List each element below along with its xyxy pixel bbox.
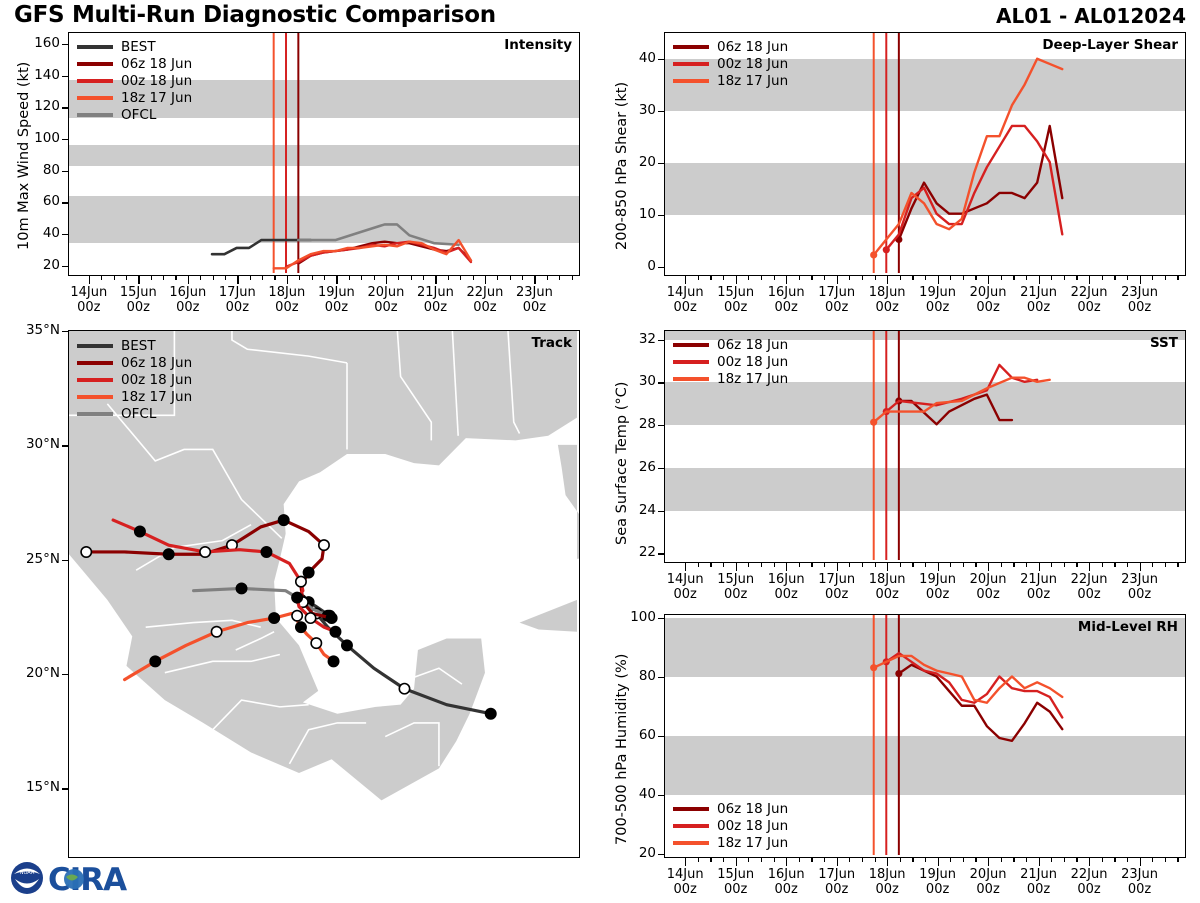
x-tick-mark [188,276,189,284]
x-tick-hour: 00z [976,587,999,602]
x-minor-tick [950,858,951,862]
x-tick-mark [336,276,337,284]
x-tick-date: 23Jun [1121,572,1158,587]
x-minor-tick [862,858,863,862]
x-tick-mark [386,276,387,284]
x-minor-tick [225,276,226,280]
x-minor-tick [522,276,523,280]
x-minor-tick [1051,858,1052,862]
svg-text:NOAA: NOAA [20,870,35,876]
x-tick-mark [988,276,989,284]
legend-label: 18z 17 Jun [717,73,788,89]
legend-item: 00z 18 Jun [77,371,192,388]
x-minor-tick [1013,858,1014,862]
x-tick-mark [786,563,787,571]
x-minor-tick [710,563,711,567]
series-start-marker [895,670,902,677]
legend-item: 00z 18 Jun [673,353,788,370]
legend-label: 06z 18 Jun [121,56,192,72]
y-tick-label: 160 [6,35,60,51]
shear-panel-title: Deep-Layer Shear [1042,37,1178,53]
series-line [899,665,1062,741]
track-point-marker [319,540,329,550]
legend-label: 06z 18 Jun [717,801,788,817]
track-point-marker [236,583,246,593]
intensity-panel-title: Intensity [504,37,572,53]
x-tick-hour: 00z [1128,300,1151,315]
y-tick-mark [658,618,665,619]
x-tick-mark [736,276,737,284]
x-tick-label: 23Jun00z [1102,572,1178,602]
track-point-marker [399,684,409,694]
x-tick-hour: 00z [674,882,697,897]
x-minor-tick [723,276,724,280]
x-tick-hour: 00z [774,882,797,897]
y-tick-label: 40 [602,50,656,66]
x-minor-tick [900,276,901,280]
latitude-tick-label: 15°N [6,779,60,795]
x-minor-tick [963,563,964,567]
y-tick-label: 10 [602,206,656,222]
x-tick-hour: 00z [825,587,848,602]
x-tick-hour: 00z [724,882,747,897]
latitude-tick-mark [62,331,69,332]
x-tick-hour: 00z [1128,882,1151,897]
x-minor-tick [748,563,749,567]
legend-item: OFCL [77,106,192,123]
latitude-tick-mark [62,674,69,675]
series-line [874,656,1063,703]
x-minor-tick [811,858,812,862]
x-minor-tick [723,563,724,567]
x-tick-mark [89,276,90,284]
x-minor-tick [299,276,300,280]
x-minor-tick [849,858,850,862]
x-minor-tick [875,276,876,280]
legend-item: 06z 18 Jun [673,800,788,817]
legend-item: 06z 18 Jun [77,55,192,72]
x-minor-tick [1165,563,1166,567]
x-tick-date: 23Jun [516,285,553,300]
x-tick-hour: 00z [1027,587,1050,602]
x-tick-mark [685,858,686,866]
y-tick-mark [658,340,665,341]
page-title: GFS Multi-Run Diagnostic Comparison [14,2,496,28]
x-tick-mark [938,276,939,284]
x-minor-tick [423,276,424,280]
x-minor-tick [101,276,102,280]
y-tick-label: 24 [602,502,656,518]
y-tick-label: 140 [6,67,60,83]
track-point-marker [261,547,271,557]
legend-line-swatch [673,841,709,845]
legend-item: BEST [77,38,192,55]
x-minor-tick [849,276,850,280]
x-minor-tick [1076,858,1077,862]
legend-line-swatch [77,96,113,100]
legend-label: 00z 18 Jun [121,73,192,89]
x-minor-tick [862,563,863,567]
x-minor-tick [411,276,412,280]
x-minor-tick [774,858,775,862]
y-tick-mark [658,382,665,383]
track-point-marker [303,567,313,577]
intensity-y-axis-label: 10m Max Wind Speed (kt) [16,62,32,250]
x-tick-mark [837,276,838,284]
legend-line-swatch [77,344,113,348]
legend-line-swatch [673,824,709,828]
y-tick-label: 20 [602,154,656,170]
legend-item: 06z 18 Jun [77,354,192,371]
x-tick-mark [1089,276,1090,284]
y-tick-mark [62,76,69,77]
legend-label: OFCL [121,406,156,422]
x-tick-mark [534,276,535,284]
x-minor-tick [975,858,976,862]
y-tick-mark [658,59,665,60]
sst-legend: 06z 18 Jun00z 18 Jun18z 17 Jun [673,336,788,387]
y-tick-mark [62,202,69,203]
series-start-marker [870,251,877,258]
x-minor-tick [875,563,876,567]
x-minor-tick [200,276,201,280]
y-tick-label: 20 [602,845,656,861]
x-minor-tick [547,276,548,280]
track-point-marker [211,627,221,637]
x-tick-mark [485,276,486,284]
legend-item: 18z 17 Jun [673,370,788,387]
y-tick-mark [658,677,665,678]
x-tick-hour: 00z [724,300,747,315]
x-tick-hour: 00z [325,300,348,315]
legend-item: 18z 17 Jun [77,89,192,106]
y-tick-label: 0 [602,258,656,274]
x-tick-hour: 00z [774,587,797,602]
x-minor-tick [811,276,812,280]
x-minor-tick [912,563,913,567]
x-tick-hour: 00z [926,882,949,897]
x-minor-tick [497,276,498,280]
x-minor-tick [398,276,399,280]
x-tick-label: 23Jun00z [1102,867,1178,897]
x-tick-hour: 00z [473,300,496,315]
x-tick-mark [736,563,737,571]
legend-item: BEST [77,337,192,354]
x-tick-hour: 00z [976,300,999,315]
x-tick-hour: 00z [1027,882,1050,897]
track-point-marker [342,640,352,650]
series-line [886,126,1062,250]
x-minor-tick [175,276,176,280]
x-minor-tick [1127,858,1128,862]
y-tick-label: 80 [602,668,656,684]
legend-line-swatch [77,412,113,416]
legend-item: 06z 18 Jun [673,38,788,55]
x-minor-tick [975,276,976,280]
x-minor-tick [559,276,560,280]
x-minor-tick [698,563,699,567]
track-point-marker [328,656,338,666]
y-tick-label: 100 [602,609,656,625]
x-tick-mark [786,276,787,284]
x-tick-hour: 00z [1027,300,1050,315]
x-minor-tick [1076,563,1077,567]
x-minor-tick [761,858,762,862]
x-minor-tick [448,276,449,280]
x-tick-date: 23Jun [1121,285,1158,300]
x-minor-tick [862,276,863,280]
legend-line-swatch [77,45,113,49]
x-minor-tick [963,276,964,280]
legend-label: 18z 17 Jun [121,90,192,106]
noaa-cira-logo: NOAA CIRA [8,857,178,899]
x-minor-tick [925,276,926,280]
rh-panel: Mid-Level RH 06z 18 Jun00z 18 Jun18z 17 … [664,614,1186,858]
y-tick-mark [658,267,665,268]
latitude-tick-mark [62,788,69,789]
x-minor-tick [875,858,876,862]
x-minor-tick [912,276,913,280]
y-tick-label: 28 [602,416,656,432]
x-minor-tick [811,563,812,567]
y-tick-label: 26 [602,459,656,475]
x-minor-tick [761,276,762,280]
x-tick-hour: 00z [523,300,546,315]
x-tick-hour: 00z [875,300,898,315]
x-minor-tick [1001,563,1002,567]
track-point-marker [279,515,289,525]
x-minor-tick [799,858,800,862]
x-tick-hour: 00z [1077,587,1100,602]
series-start-marker [870,419,877,426]
y-tick-mark [658,854,665,855]
y-tick-mark [658,215,665,216]
x-minor-tick [262,276,263,280]
x-tick-hour: 00z [926,300,949,315]
x-minor-tick [213,276,214,280]
x-tick-mark [1140,276,1141,284]
x-minor-tick [710,276,711,280]
cira-logo: CIRA [48,862,127,898]
legend-label: 18z 17 Jun [121,389,192,405]
x-minor-tick [824,563,825,567]
series-start-marker [883,246,890,253]
y-tick-label: 100 [6,130,60,146]
x-tick-mark [1039,563,1040,571]
x-tick-date: 23Jun [1121,867,1158,882]
legend-line-swatch [673,343,709,347]
x-tick-mark [685,276,686,284]
track-panel[interactable]: Track BEST06z 18 Jun00z 18 Jun18z 17 Jun… [68,330,580,858]
y-tick-mark [658,511,665,512]
x-minor-tick [1064,858,1065,862]
x-minor-tick [963,858,964,862]
x-minor-tick [900,563,901,567]
x-minor-tick [1051,563,1052,567]
x-minor-tick [1026,276,1027,280]
x-minor-tick [151,276,152,280]
track-point-marker [292,611,302,621]
legend-line-swatch [77,395,113,399]
y-tick-mark [62,171,69,172]
legend-label: 06z 18 Jun [717,39,788,55]
track-point-marker [330,627,340,637]
legend-item: 00z 18 Jun [673,55,788,72]
track-panel-title: Track [532,335,572,351]
x-minor-tick [1076,276,1077,280]
latitude-tick-label: 20°N [6,665,60,681]
x-tick-mark [435,276,436,284]
track-point-marker [292,592,302,602]
x-tick-mark [237,276,238,284]
legend-line-swatch [77,361,113,365]
y-tick-mark [62,266,69,267]
track-point-marker [269,613,279,623]
track-point-marker [296,576,306,586]
x-tick-mark [938,563,939,571]
x-minor-tick [312,276,313,280]
x-tick-hour: 00z [226,300,249,315]
y-tick-label: 60 [602,727,656,743]
legend-item: 00z 18 Jun [673,817,788,834]
x-tick-label: 23Jun00z [496,285,572,315]
track-point-marker [164,549,174,559]
y-tick-label: 120 [6,98,60,114]
storm-id-title: AL01 - AL012024 [996,4,1186,28]
x-minor-tick [460,276,461,280]
x-minor-tick [1127,563,1128,567]
x-minor-tick [1064,563,1065,567]
x-minor-tick [912,858,913,862]
y-tick-mark [658,425,665,426]
track-point-marker [296,622,306,632]
x-minor-tick [1177,858,1178,862]
series-line [212,240,311,254]
y-tick-mark [658,736,665,737]
x-minor-tick [1177,563,1178,567]
x-tick-mark [1140,858,1141,866]
x-minor-tick [1114,858,1115,862]
noaa-logo: NOAA [11,862,43,894]
x-minor-tick [1064,276,1065,280]
x-tick-mark [736,858,737,866]
latitude-tick-label: 25°N [6,551,60,567]
legend-item: 18z 17 Jun [673,834,788,851]
x-tick-hour: 00z [825,882,848,897]
shear-legend: 06z 18 Jun00z 18 Jun18z 17 Jun [673,38,788,89]
x-tick-mark [1039,858,1040,866]
y-tick-label: 30 [602,373,656,389]
track-point-marker [311,638,321,648]
legend-label: BEST [121,338,156,354]
x-tick-hour: 00z [774,300,797,315]
legend-label: OFCL [121,107,156,123]
x-tick-hour: 00z [724,587,747,602]
x-minor-tick [761,563,762,567]
legend-item: 18z 17 Jun [673,72,788,89]
legend-line-swatch [77,113,113,117]
x-minor-tick [1127,276,1128,280]
x-tick-mark [1089,858,1090,866]
x-minor-tick [349,276,350,280]
legend-item: 06z 18 Jun [673,336,788,353]
legend-label: 06z 18 Jun [121,355,192,371]
x-minor-tick [1165,858,1166,862]
legend-line-swatch [673,377,709,381]
x-minor-tick [163,276,164,280]
x-minor-tick [900,858,901,862]
x-minor-tick [1013,276,1014,280]
latitude-tick-mark [62,445,69,446]
x-tick-hour: 00z [825,300,848,315]
x-tick-hour: 00z [374,300,397,315]
x-tick-hour: 00z [875,882,898,897]
x-tick-hour: 00z [275,300,298,315]
x-tick-mark [837,563,838,571]
legend-line-swatch [77,79,113,83]
x-minor-tick [950,276,951,280]
x-minor-tick [1026,858,1027,862]
track-legend: BEST06z 18 Jun00z 18 Jun18z 17 JunOFCL [77,337,192,422]
track-point-marker [135,526,145,536]
rh-panel-title: Mid-Level RH [1078,619,1178,635]
x-minor-tick [975,563,976,567]
x-minor-tick [114,276,115,280]
x-minor-tick [250,276,251,280]
x-minor-tick [572,276,573,280]
x-minor-tick [1114,563,1115,567]
x-minor-tick [324,276,325,280]
y-tick-label: 20 [6,257,60,273]
x-tick-label: 23Jun00z [1102,285,1178,315]
intensity-panel: Intensity BEST06z 18 Jun00z 18 Jun18z 17… [68,32,580,276]
x-tick-mark [988,563,989,571]
x-minor-tick [849,563,850,567]
y-tick-label: 40 [602,786,656,802]
x-minor-tick [1026,563,1027,567]
x-minor-tick [1152,563,1153,567]
y-tick-mark [658,553,665,554]
x-tick-hour: 00z [127,300,150,315]
x-tick-hour: 00z [1128,587,1151,602]
x-minor-tick [510,276,511,280]
x-tick-mark [988,858,989,866]
x-tick-mark [887,563,888,571]
legend-line-swatch [673,79,709,83]
y-tick-mark [62,44,69,45]
legend-line-swatch [77,62,113,66]
x-minor-tick [925,563,926,567]
x-tick-hour: 00z [176,300,199,315]
x-tick-mark [138,276,139,284]
x-minor-tick [374,276,375,280]
x-minor-tick [950,563,951,567]
x-minor-tick [1152,858,1153,862]
x-tick-hour: 00z [1077,300,1100,315]
x-minor-tick [1177,276,1178,280]
y-tick-mark [658,111,665,112]
x-tick-mark [938,858,939,866]
x-minor-tick [748,276,749,280]
x-minor-tick [126,276,127,280]
x-minor-tick [723,858,724,862]
y-tick-mark [658,163,665,164]
x-tick-hour: 00z [674,300,697,315]
x-minor-tick [1165,276,1166,280]
legend-label: 00z 18 Jun [717,56,788,72]
x-tick-mark [1140,563,1141,571]
x-tick-mark [837,858,838,866]
